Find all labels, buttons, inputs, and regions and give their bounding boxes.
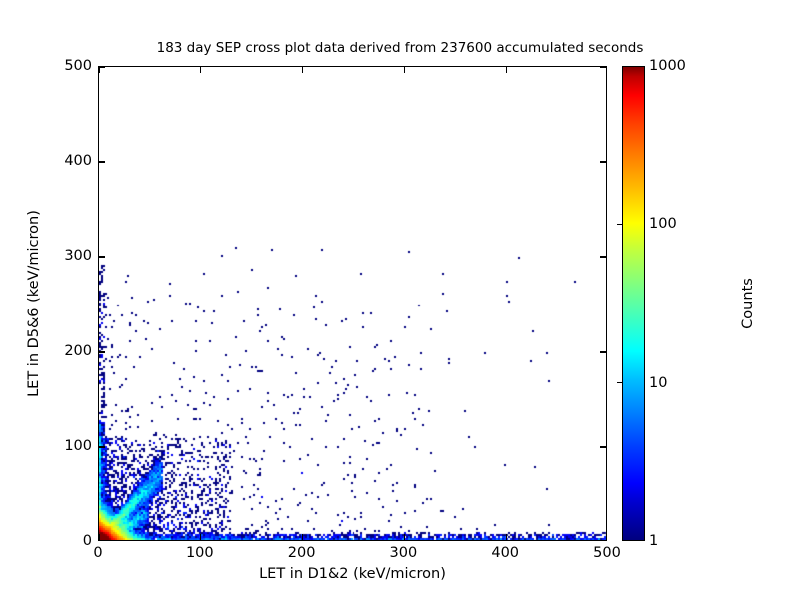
y-tick-label-500: 500: [64, 58, 92, 74]
x-tick-300: [404, 534, 405, 540]
y-tick-200: [99, 351, 105, 352]
title-line-1: 183 day SEP cross plot data derived from…: [0, 40, 800, 57]
x-tick-label-500: 500: [593, 545, 621, 561]
y-tick-300: [99, 256, 105, 257]
colorbar: [622, 66, 645, 541]
x-tick-label-300: 300: [390, 545, 418, 561]
figure: 183 day SEP cross plot data derived from…: [0, 0, 800, 600]
x-tick-top-300: [404, 67, 405, 73]
colorbar-label: Counts: [740, 66, 756, 541]
y-tick-right-400: [600, 161, 606, 162]
y-axis-label: LET in D5&6 (keV/micron): [26, 66, 42, 541]
colorbar-tick-label-1: 1: [649, 533, 658, 549]
y-tick-right-300: [600, 256, 606, 257]
y-tick-label-300: 300: [64, 248, 92, 264]
y-tick-label-100: 100: [64, 438, 92, 454]
y-tick-400: [99, 161, 105, 162]
y-tick-right-100: [600, 446, 606, 447]
x-tick-label-200: 200: [288, 545, 316, 561]
colorbar-tick-label-10: 10: [649, 375, 667, 391]
x-axis-label: LET in D1&2 (keV/micron): [98, 566, 607, 582]
x-tick-top-0: [98, 67, 99, 73]
y-tick-right-200: [600, 351, 606, 352]
scatter-density-canvas: [99, 67, 607, 541]
colorbar-tick-label-1000: 1000: [649, 58, 686, 74]
x-tick-0: [98, 534, 99, 540]
y-tick-500: [99, 66, 105, 67]
x-tick-100: [200, 534, 201, 540]
colorbar-tick-100: [617, 224, 622, 225]
x-tick-top-200: [302, 67, 303, 73]
colorbar-tick-10: [617, 382, 622, 383]
y-tick-right-500: [600, 66, 606, 67]
y-tick-label-400: 400: [64, 153, 92, 169]
x-tick-400: [506, 534, 507, 540]
y-tick-label-200: 200: [64, 343, 92, 359]
plot-axes: [98, 66, 607, 541]
x-tick-label-400: 400: [491, 545, 519, 561]
colorbar-tick-label-100: 100: [649, 216, 677, 232]
x-tick-label-0: 0: [93, 545, 102, 561]
y-tick-label-0: 0: [83, 533, 92, 549]
x-tick-200: [302, 534, 303, 540]
x-tick-label-100: 100: [186, 545, 214, 561]
x-tick-top-400: [506, 67, 507, 73]
y-tick-100: [99, 446, 105, 447]
x-tick-top-100: [200, 67, 201, 73]
